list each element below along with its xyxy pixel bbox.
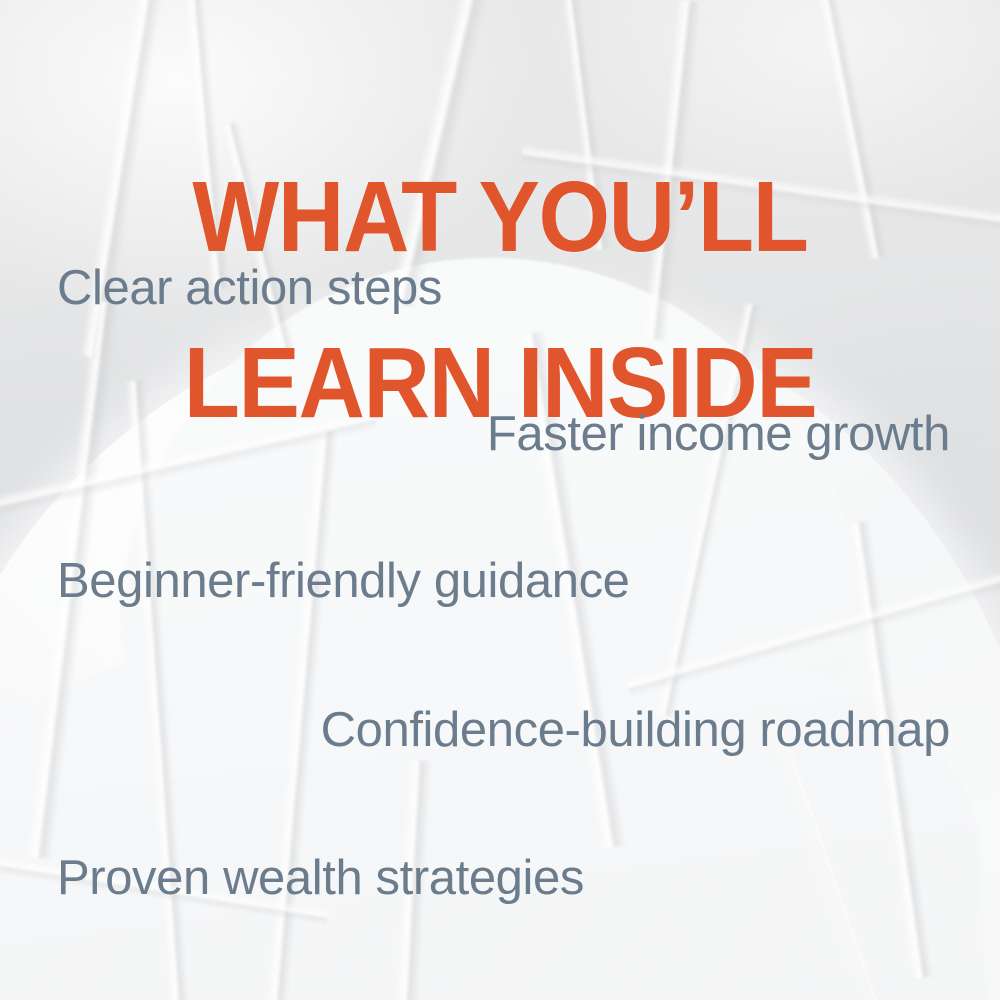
benefit-item-4: Confidence-building roadmap <box>321 705 950 756</box>
benefit-item-3: Beginner-friendly guidance <box>57 556 630 607</box>
poster-content: WHAT YOU’LL LEARN INSIDE Clear action st… <box>0 0 1000 1000</box>
page-title-line-1: WHAT YOU’LL <box>40 176 960 259</box>
poster-canvas: WHAT YOU’LL LEARN INSIDE Clear action st… <box>0 0 1000 1000</box>
benefit-item-1: Clear action steps <box>57 263 442 314</box>
benefit-item-5: Proven wealth strategies <box>57 853 584 904</box>
benefit-item-2: Faster income growth <box>487 409 950 460</box>
